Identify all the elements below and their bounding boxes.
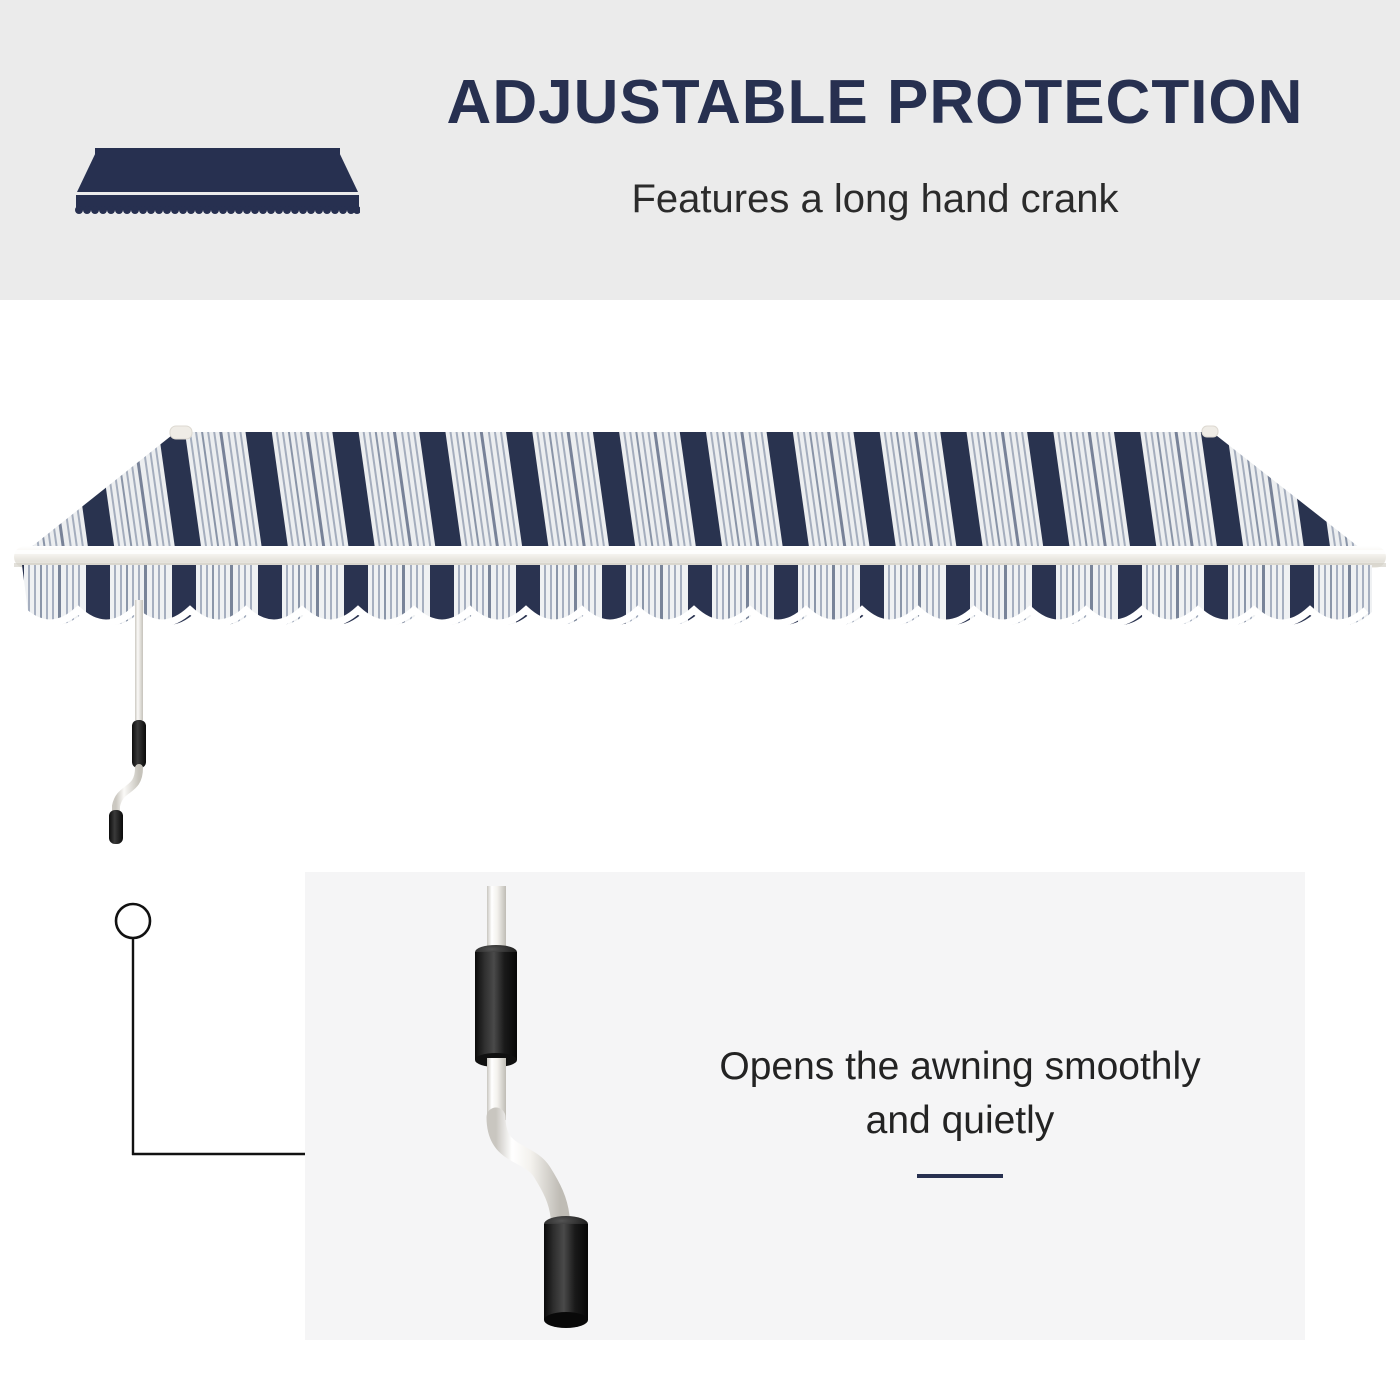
header-band: ADJUSTABLE PROTECTION Features a long ha… xyxy=(0,0,1400,300)
detail-underline xyxy=(917,1174,1003,1178)
page-title: ADJUSTABLE PROTECTION xyxy=(380,70,1370,135)
awning-icon xyxy=(75,148,360,220)
circle-marker-icon xyxy=(116,904,150,938)
detail-caption-line-1: Opens the awning smoothly xyxy=(635,1040,1285,1094)
detail-caption-block: Opens the awning smoothly and quietly xyxy=(635,1040,1285,1178)
hand-crank-arm xyxy=(90,600,250,930)
callout-leader-line xyxy=(100,890,330,1170)
page-subtitle: Features a long hand crank xyxy=(380,177,1370,221)
awning-front-bar xyxy=(14,546,1386,568)
detail-caption-line-2: and quietly xyxy=(635,1094,1285,1148)
header-text-block: ADJUSTABLE PROTECTION Features a long ha… xyxy=(380,70,1370,221)
detail-panel: Opens the awning smoothly and quietly xyxy=(305,872,1305,1340)
